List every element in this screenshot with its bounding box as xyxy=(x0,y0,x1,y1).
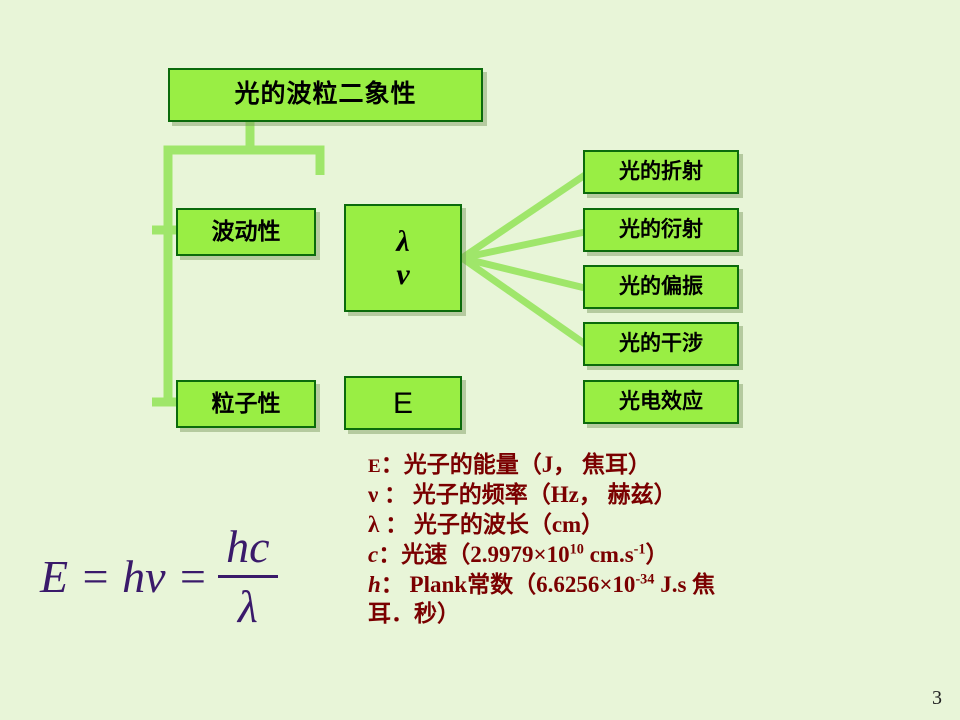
legend-energy-symbol: E xyxy=(368,456,381,477)
node-interference-label: 光的干涉 xyxy=(619,332,703,355)
legend-planck-symbol: h xyxy=(368,572,381,597)
legend-speed-text-a: ：光速（2.9979×10 xyxy=(378,542,569,567)
legend-planck-text-a: ： Plank常数（6.6256×10 xyxy=(381,572,636,597)
legend-wavelength-text: ： 光子的波长（cm） xyxy=(379,512,604,537)
fraction-bar-icon xyxy=(218,575,277,578)
legend-line-wavelength: λ ： 光子的波长（cm） xyxy=(368,510,953,540)
legend-speed-text-c: ） xyxy=(646,542,669,567)
node-photoelectric-effect: 光电效应 xyxy=(583,380,739,424)
node-wave-nature-label: 波动性 xyxy=(212,219,281,244)
formula-fraction: hc λ xyxy=(218,520,277,633)
legend-speed-symbol: c xyxy=(368,542,378,567)
legend-wavelength-symbol: λ xyxy=(368,512,379,537)
legend-speed-exp2: -1 xyxy=(634,541,646,557)
lambda-symbol: λ xyxy=(396,225,409,258)
node-diffraction: 光的衍射 xyxy=(583,208,739,252)
legend-speed-text-b: cm.s xyxy=(584,542,634,567)
energy-symbol: E xyxy=(393,387,413,420)
formula-energy: E = hν = hc λ xyxy=(40,520,278,633)
legend-line-frequency: ν ： 光子的频率（Hz， 赫兹） xyxy=(368,480,953,510)
node-interference: 光的干涉 xyxy=(583,322,739,366)
legend-frequency-text: ： 光子的频率（Hz， 赫兹） xyxy=(378,482,676,507)
legend-energy-text: ：光子的能量（J， 焦耳） xyxy=(381,452,651,477)
title-label: 光的波粒二象性 xyxy=(234,81,416,109)
nu-symbol: ν xyxy=(396,258,409,291)
title-node: 光的波粒二象性 xyxy=(168,68,483,122)
node-polarization-label: 光的偏振 xyxy=(619,275,703,298)
node-particle-nature-label: 粒子性 xyxy=(212,391,281,416)
node-photoelectric-effect-label: 光电效应 xyxy=(619,390,703,413)
node-lambda-nu: λ ν xyxy=(344,204,462,312)
legend-line-energy: E：光子的能量（J， 焦耳） xyxy=(368,450,953,480)
legend-frequency-symbol: ν xyxy=(368,482,378,507)
legend-line-planck: h： Plank常数（6.6256×10-34 J.s 焦 xyxy=(368,570,953,600)
node-polarization: 光的偏振 xyxy=(583,265,739,309)
legend-planck-exp: -34 xyxy=(635,571,654,587)
legend-speed-exp: 10 xyxy=(570,541,584,557)
page-number: 3 xyxy=(932,687,942,710)
node-refraction: 光的折射 xyxy=(583,150,739,194)
node-diffraction-label: 光的衍射 xyxy=(619,218,703,241)
legend-planck-text-c: 耳．秒） xyxy=(368,601,460,626)
formula-denominator: λ xyxy=(230,580,266,633)
node-refraction-label: 光的折射 xyxy=(619,160,703,183)
legend-line-speed: c：光速（2.9979×1010 cm.s-1） xyxy=(368,540,953,570)
legend-planck-text-b: J.s 焦 xyxy=(654,572,715,597)
node-particle-nature: 粒子性 xyxy=(176,380,316,428)
legend-block: E：光子的能量（J， 焦耳） ν ： 光子的频率（Hz， 赫兹） λ ： 光子的… xyxy=(368,450,953,629)
node-energy-e: E xyxy=(344,376,462,430)
formula-numerator: hc xyxy=(218,520,277,573)
node-wave-nature: 波动性 xyxy=(176,208,316,256)
slide-canvas: 光的波粒二象性 波动性 粒子性 λ ν E 光的折射 光的衍射 光的偏振 光的干… xyxy=(0,0,960,720)
legend-line-planck-cont: 耳．秒） xyxy=(368,599,953,629)
formula-lhs: E = hν = xyxy=(40,550,208,603)
